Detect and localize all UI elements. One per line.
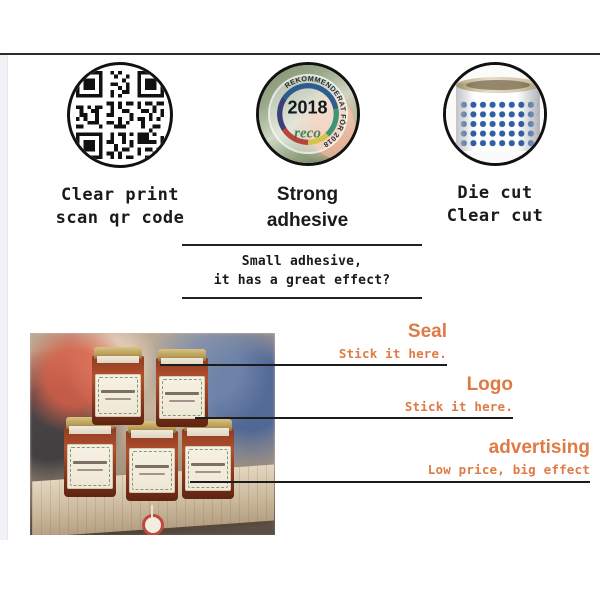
jar-bottom-right [182, 419, 234, 499]
feature-caption: Strong adhesive [225, 182, 390, 233]
roll-shading [456, 83, 540, 151]
top-divider [0, 53, 600, 55]
leader-line-seal [160, 364, 447, 366]
feature-row: Clear print scan qr code REKOMMENDERAT F… [0, 62, 600, 247]
qr-code-icon [67, 62, 173, 168]
feature-die-cut: Die cut Clear cut [410, 62, 580, 228]
annotation-subtitle: Stick it here. [313, 399, 513, 415]
jar-bottom-left [64, 417, 116, 497]
leader-line-logo [195, 417, 513, 419]
infographic-page: Clear print scan qr code REKOMMENDERAT F… [0, 0, 600, 600]
jar-top-right [156, 349, 208, 427]
question-text: Small adhesive, it has a great effect? [182, 246, 422, 297]
leader-line-advertising [190, 481, 590, 483]
question-rule-bottom [182, 297, 422, 299]
jar-top-left [92, 347, 144, 425]
annotation-logo: Logo Stick it here. [313, 375, 513, 415]
sticker-year: 2018 [287, 98, 327, 119]
feature-strong-adhesive: REKOMMENDERAT FÖR 2018 2018 reco Strong … [225, 62, 390, 233]
award-sticker-photo: REKOMMENDERAT FÖR 2018 2018 reco [256, 62, 360, 166]
annotation-advertising: advertising Low price, big effect [330, 438, 590, 478]
annotation-title: advertising [330, 438, 590, 459]
question-band: Small adhesive, it has a great effect? [182, 244, 422, 299]
annotation-title: Seal [247, 322, 447, 343]
annotation-title: Logo [313, 375, 513, 396]
feature-caption: Die cut Clear cut [410, 182, 580, 228]
feature-clear-print: Clear print scan qr code [30, 62, 210, 230]
annotation-subtitle: Low price, big effect [330, 462, 590, 478]
annotation-seal: Seal Stick it here. [247, 322, 447, 362]
sticker-brand: reco [294, 125, 321, 142]
feature-caption: Clear print scan qr code [30, 184, 210, 230]
jar-bottom-center [126, 421, 178, 501]
annotation-subtitle: Stick it here. [247, 346, 447, 362]
label-roll-photo [443, 62, 547, 166]
price-tag [142, 514, 164, 535]
